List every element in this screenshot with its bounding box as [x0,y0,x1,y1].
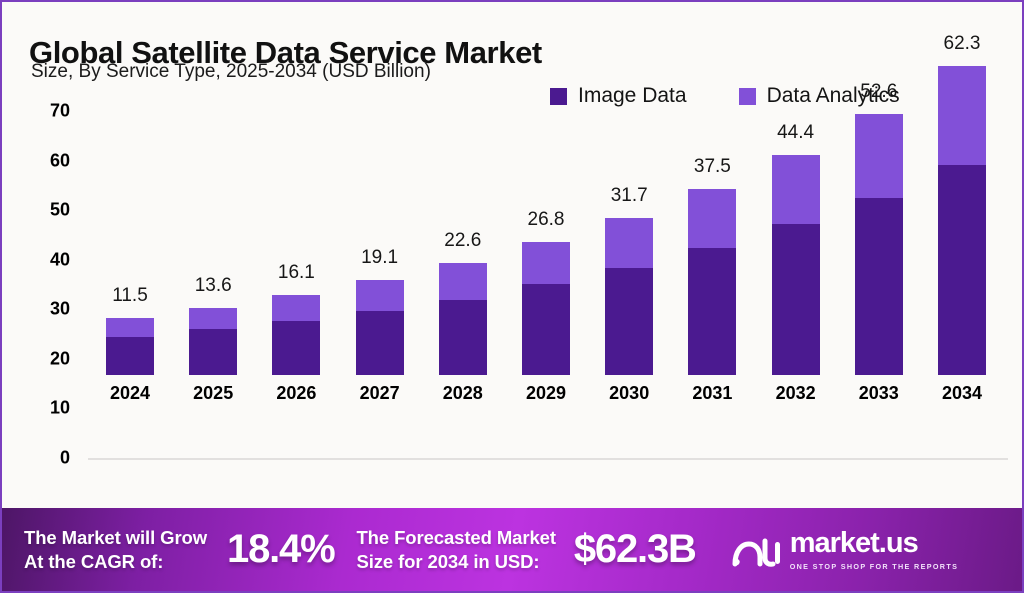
bar-group[interactable]: 22.62028 [439,0,487,512]
cagr-value: 18.4% [227,527,334,572]
bar-segment-data-analytics[interactable] [688,189,736,248]
forecast-caption-line1: The Forecasted Market [356,526,555,549]
bar-segment-data-analytics[interactable] [772,155,820,224]
bar-group[interactable]: 52.62033 [855,0,903,512]
bar-stack [189,308,237,375]
cagr-caption: The Market will Grow At the CAGR of: [24,526,207,573]
bar-segment-image-data[interactable] [356,311,404,375]
brand-text: market.us ONE STOP SHOP FOR THE REPORTS [790,529,959,571]
bar-stack [688,189,736,375]
bar-segment-data-analytics[interactable] [356,280,404,311]
bar-value-label: 37.5 [652,156,772,178]
bar-stack [439,263,487,375]
forecast-value: $62.3B [574,527,696,572]
bar-segment-data-analytics[interactable] [106,318,154,337]
bar-segment-data-analytics[interactable] [605,218,653,268]
bar-segment-data-analytics[interactable] [938,66,986,165]
bar-segment-data-analytics[interactable] [439,263,487,300]
bar-value-label: 62.3 [902,33,1022,55]
infographic-card: Global Satellite Data Service Market Siz… [0,0,1024,593]
bar-group[interactable]: 16.12026 [272,0,320,512]
bar-stack [855,114,903,375]
bar-segment-data-analytics[interactable] [272,295,320,321]
bar-segment-image-data[interactable] [938,165,986,375]
summary-banner: The Market will Grow At the CAGR of: 18.… [2,508,1024,591]
bar-group[interactable]: 26.82029 [522,0,570,512]
bar-group[interactable]: 13.62025 [189,0,237,512]
bar-group[interactable]: 31.72030 [605,0,653,512]
bar-group[interactable]: 19.12027 [356,0,404,512]
bar-value-label: 31.7 [569,185,689,207]
bar-value-label: 22.6 [403,230,523,252]
cagr-block: The Market will Grow At the CAGR of: 18.… [2,526,334,573]
bar-segment-image-data[interactable] [522,284,570,375]
bar-group[interactable]: 11.52024 [106,0,154,512]
forecast-block: The Forecasted Market Size for 2034 in U… [334,526,695,573]
bar-stack [522,242,570,375]
bar-group[interactable]: 44.42032 [772,0,820,512]
bar-segment-image-data[interactable] [272,321,320,375]
bar-value-label: 44.4 [736,122,856,144]
brand-tagline: ONE STOP SHOP FOR THE REPORTS [790,562,959,571]
x-axis-tick-label: 2034 [902,383,1022,404]
bar-value-label: 52.6 [819,81,939,103]
bar-value-label: 26.8 [486,209,606,231]
chart-plot-area: 010203040506070 11.5202413.6202516.12026… [2,2,1024,512]
bar-segment-image-data[interactable] [189,329,237,375]
bar-group[interactable]: 37.52031 [688,0,736,512]
bar-stack [356,280,404,375]
bar-segment-data-analytics[interactable] [189,308,237,329]
brand-logo[interactable]: market.us ONE STOP SHOP FOR THE REPORTS [732,529,959,571]
bar-stack [106,318,154,375]
bar-stack [605,218,653,375]
cagr-caption-line1: The Market will Grow [24,526,207,549]
bar-segment-image-data[interactable] [772,224,820,375]
bar-series-container: 11.5202413.6202516.1202619.1202722.62028… [2,2,1024,512]
bar-stack [772,155,820,375]
bar-group[interactable]: 62.32034 [938,0,986,512]
bar-stack [938,66,986,375]
bar-segment-image-data[interactable] [439,300,487,375]
market-us-logo-icon [732,533,780,567]
bar-segment-image-data[interactable] [855,198,903,375]
bar-segment-image-data[interactable] [605,268,653,375]
bar-segment-image-data[interactable] [688,248,736,375]
bar-segment-data-analytics[interactable] [522,242,570,284]
bar-segment-image-data[interactable] [106,337,154,375]
forecast-caption-line2: Size for 2034 in USD: [356,550,555,573]
bar-segment-data-analytics[interactable] [855,114,903,197]
brand-name: market.us [790,529,959,558]
forecast-caption: The Forecasted Market Size for 2034 in U… [356,526,555,573]
bar-stack [272,295,320,375]
cagr-caption-line2: At the CAGR of: [24,550,207,573]
